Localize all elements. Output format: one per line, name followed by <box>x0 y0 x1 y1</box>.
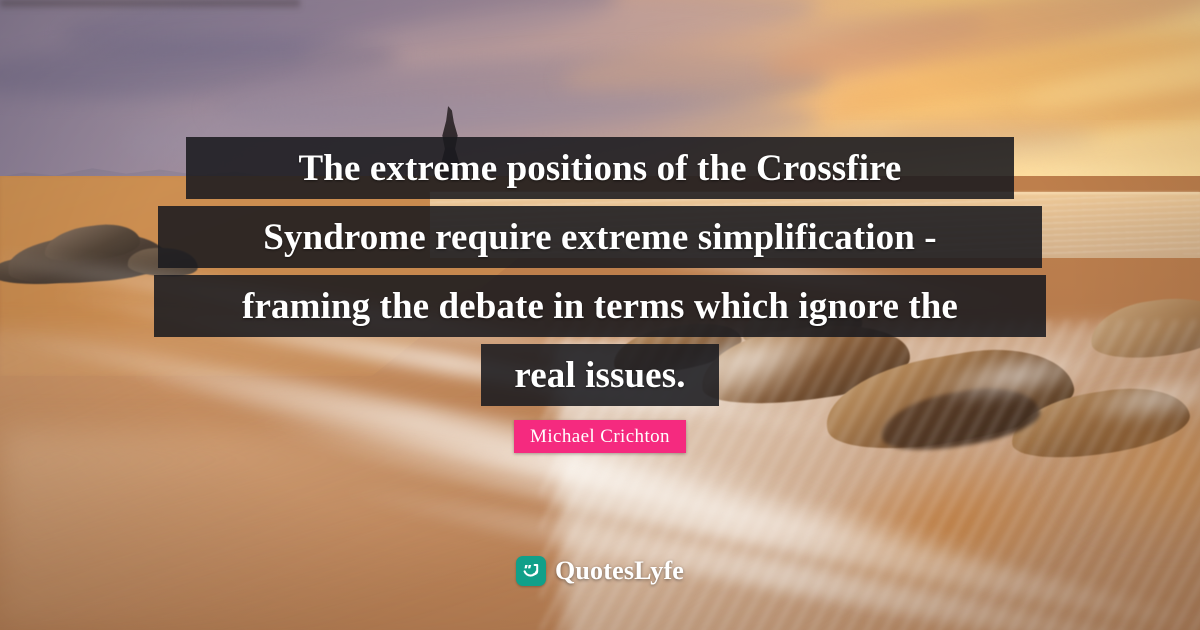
quote-line-1: The extreme positions of the Crossfire <box>186 137 1014 199</box>
brand-logo: QuotesLyfe <box>0 556 1200 586</box>
quote-line-4: real issues. <box>481 344 719 406</box>
brand-name: QuotesLyfe <box>555 558 684 584</box>
quote-line-2: Syndrome require extreme simplification … <box>158 206 1042 268</box>
quote-line-3: framing the debate in terms which ignore… <box>154 275 1046 337</box>
quote-smiley-icon <box>516 556 546 586</box>
author-attribution: Michael Crichton <box>514 420 686 453</box>
quote-card: The extreme positions of the Crossfire S… <box>0 0 1200 630</box>
